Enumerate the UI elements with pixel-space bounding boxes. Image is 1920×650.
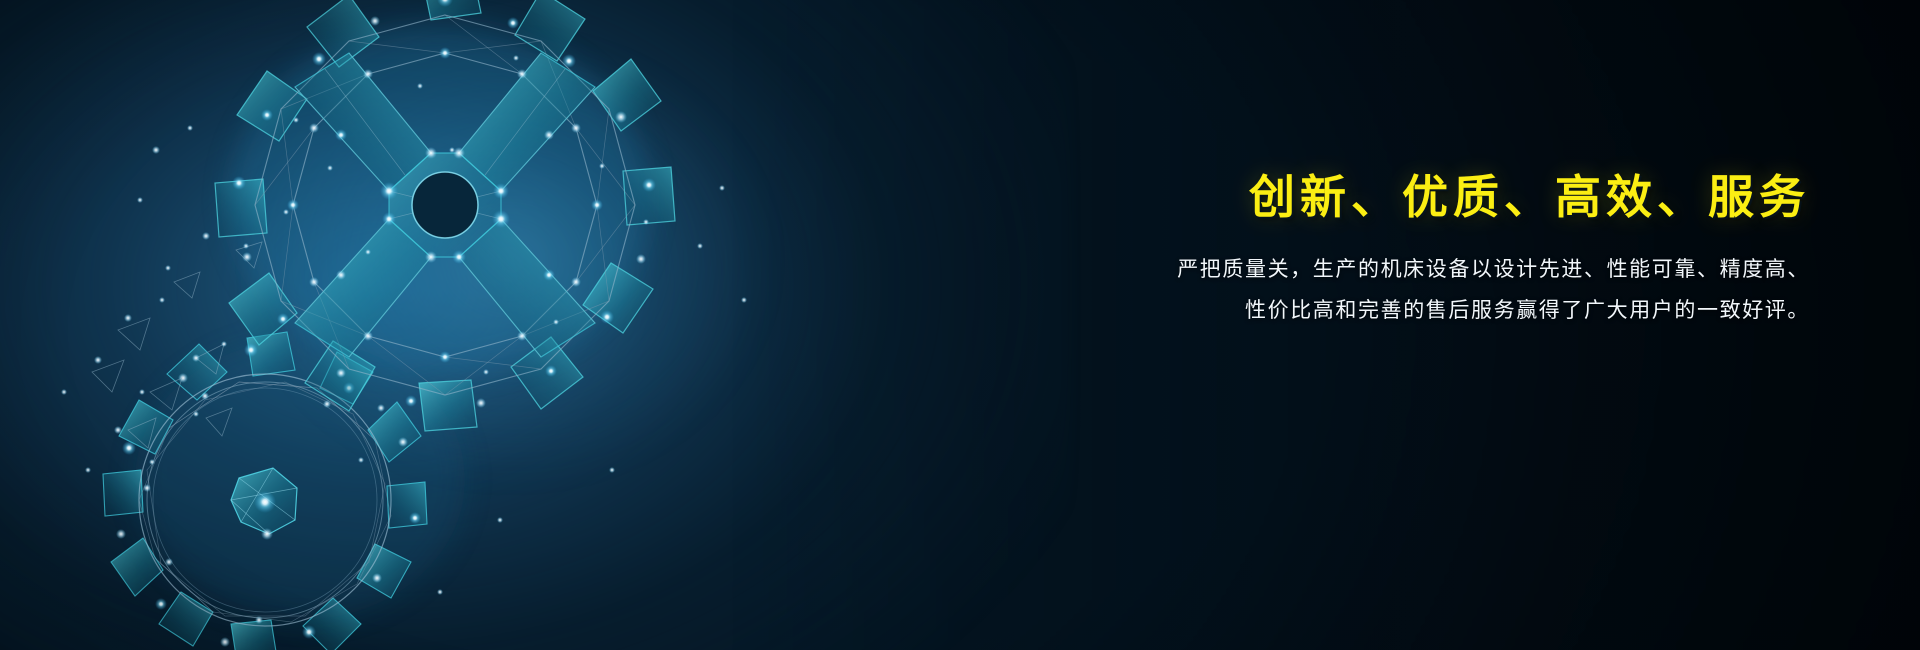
hero-banner: 创新、优质、高效、服务 严把质量关，生产的机床设备以设计先进、性能可靠、精度高、… [0,0,1920,650]
subtitle-line-2: 性价比高和完善的售后服务赢得了广大用户的一致好评。 [1050,291,1810,332]
banner-subtitle: 严把质量关，生产的机床设备以设计先进、性能可靠、精度高、 性价比高和完善的售后服… [1050,250,1810,332]
subtitle-line-1: 严把质量关，生产的机床设备以设计先进、性能可靠、精度高、 [1050,250,1810,291]
banner-headline: 创新、优质、高效、服务 [1050,170,1810,224]
banner-text-block: 创新、优质、高效、服务 严把质量关，生产的机床设备以设计先进、性能可靠、精度高、… [1050,170,1810,332]
